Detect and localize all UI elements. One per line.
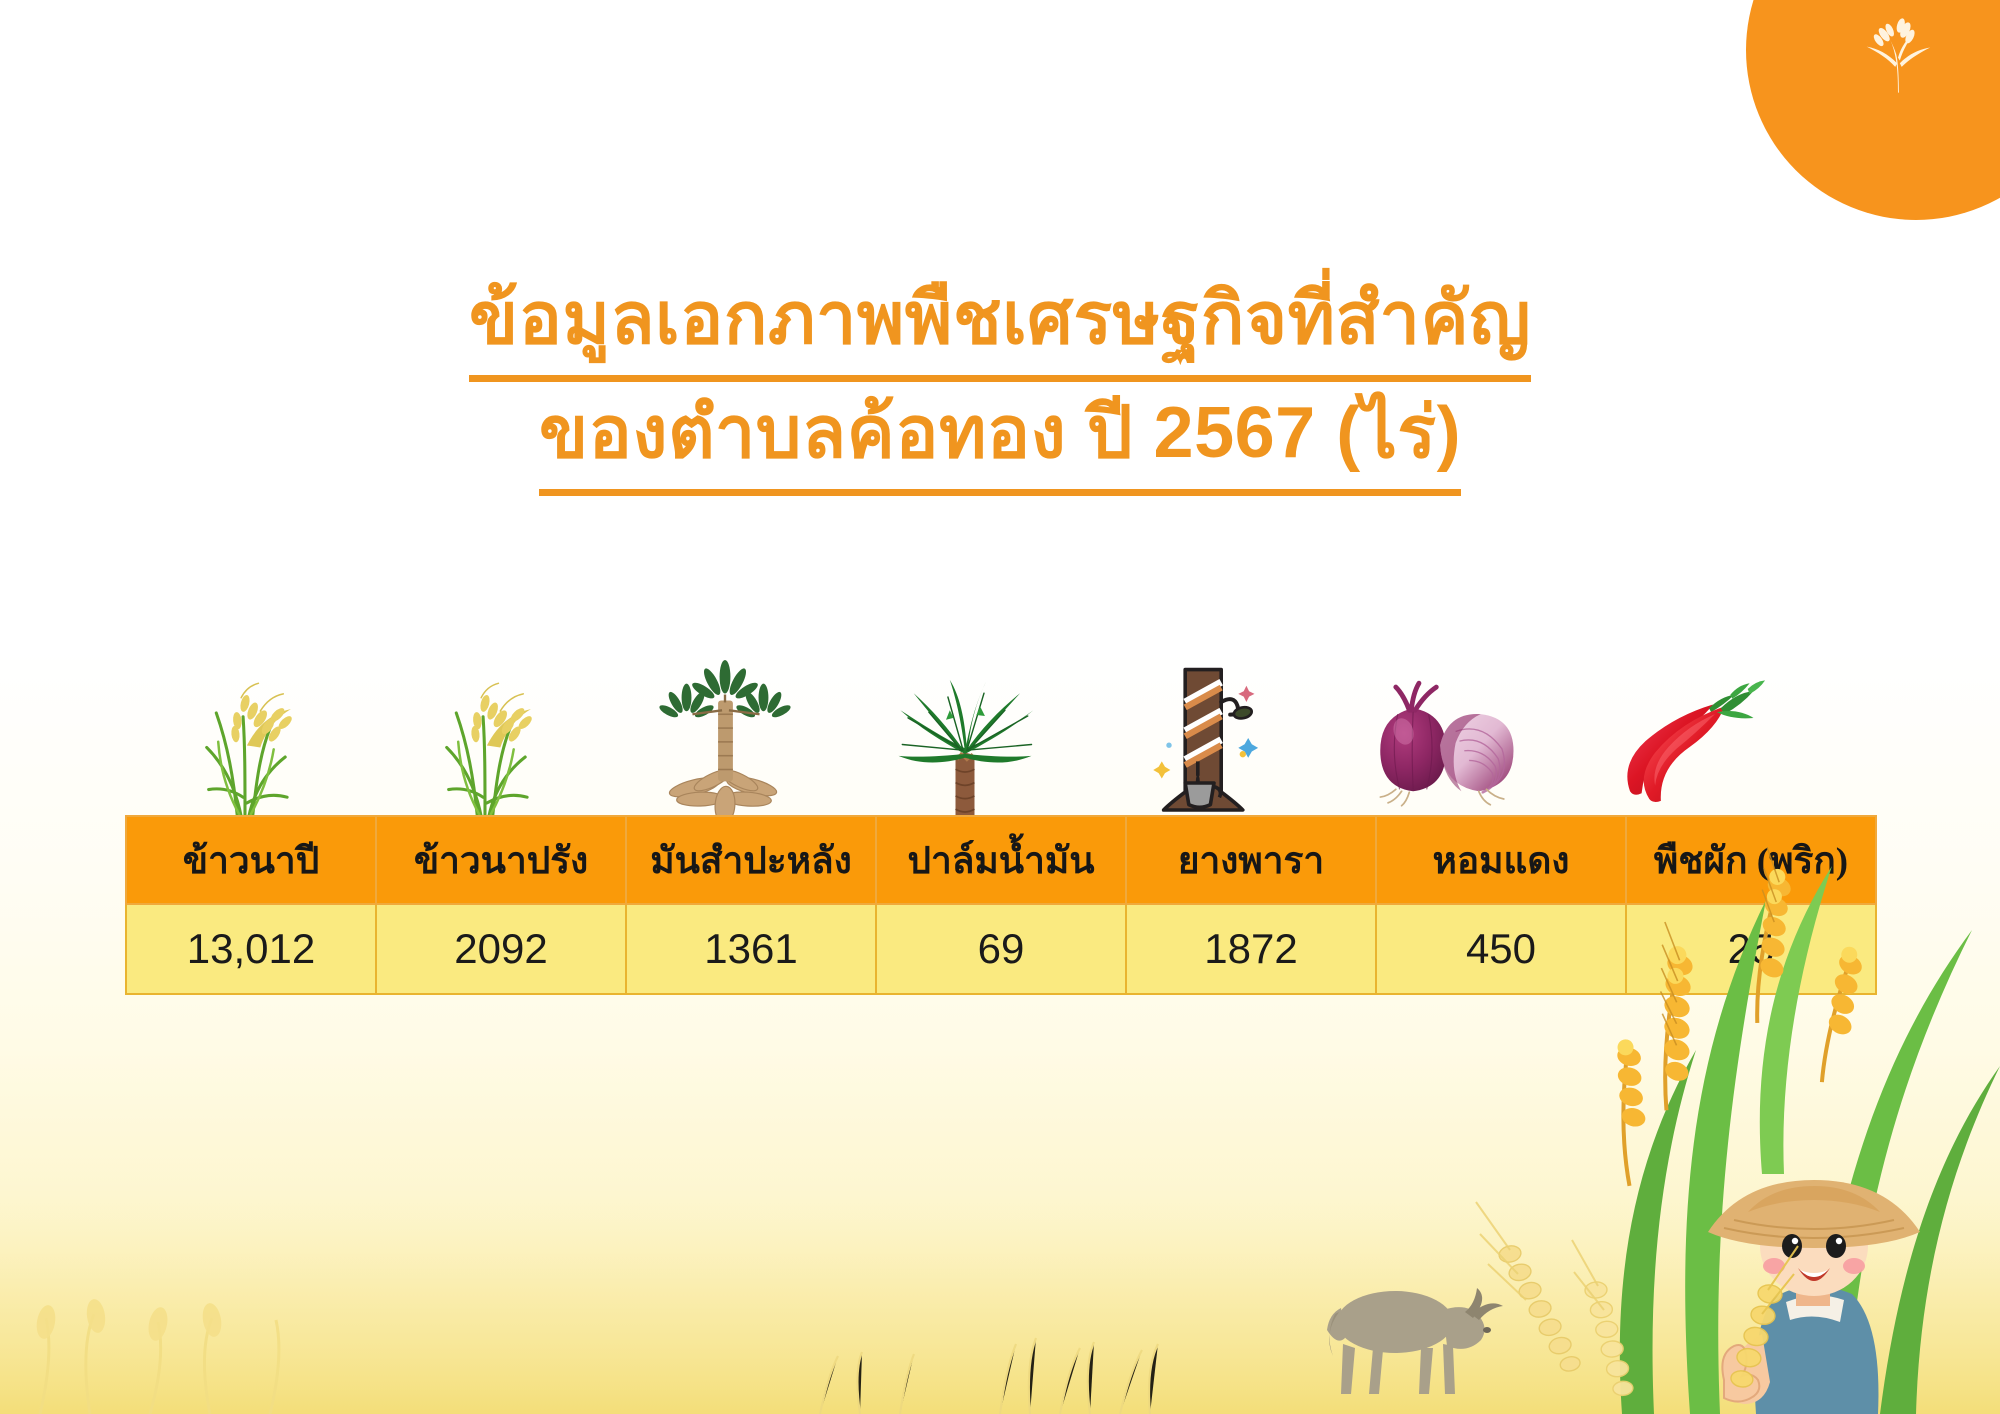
value-vegetable-chili: 25: [1626, 904, 1876, 994]
title-line-1: ข้อมูลเอกภาพพืชเศรษฐกิจที่สำคัญ: [469, 268, 1531, 382]
value-rubber: 1872: [1126, 904, 1376, 994]
title-line-2: ของตำบลค้อทอง ปี 2567 (ไร่): [539, 382, 1461, 496]
rice-plant-icon: [365, 645, 605, 817]
crop-data-table-wrapper: ข้าวนาปี ข้าวนาปรัง มันสำปะหลัง ปาล์มน้ำ…: [125, 815, 1805, 995]
column-header-rice-second: ข้าวนาปรัง: [376, 816, 626, 904]
column-header-vegetable-chili: พืชผัก (พริก): [1626, 816, 1876, 904]
rice-stalk-logo-icon: [1852, 8, 1944, 100]
value-oil-palm: 69: [876, 904, 1126, 994]
rice-field-with-buffalo-illustration: [0, 944, 2000, 1414]
rubber-tree-tapping-icon: [1085, 645, 1325, 817]
column-header-rubber: ยางพารา: [1126, 816, 1376, 904]
value-shallot: 450: [1376, 904, 1626, 994]
rice-plant-icon: [125, 645, 365, 817]
column-header-shallot: หอมแดง: [1376, 816, 1626, 904]
crop-data-table: ข้าวนาปี ข้าวนาปรัง มันสำปะหลัง ปาล์มน้ำ…: [125, 815, 1877, 995]
page-title: ข้อมูลเอกภาพพืชเศรษฐกิจที่สำคัญ ของตำบลค…: [0, 268, 2000, 496]
column-header-cassava: มันสำปะหลัง: [626, 816, 876, 904]
chili-pepper-icon: [1565, 645, 1805, 817]
crop-icon-row: [125, 645, 1805, 817]
column-header-rice-main: ข้าวนาปี: [126, 816, 376, 904]
value-rice-main: 13,012: [126, 904, 376, 994]
slide-canvas: ข้อมูลเอกภาพพืชเศรษฐกิจที่สำคัญ ของตำบลค…: [0, 0, 2000, 1414]
table-row: 13,012 2092 1361 69 1872 450 25: [126, 904, 1876, 994]
cassava-plant-icon: [605, 645, 845, 817]
table-header-row: ข้าวนาปี ข้าวนาปรัง มันสำปะหลัง ปาล์มน้ำ…: [126, 816, 1876, 904]
column-header-oil-palm: ปาล์มน้ำมัน: [876, 816, 1126, 904]
shallot-icon: [1325, 645, 1565, 817]
value-cassava: 1361: [626, 904, 876, 994]
value-rice-second: 2092: [376, 904, 626, 994]
oil-palm-icon: [845, 645, 1085, 817]
